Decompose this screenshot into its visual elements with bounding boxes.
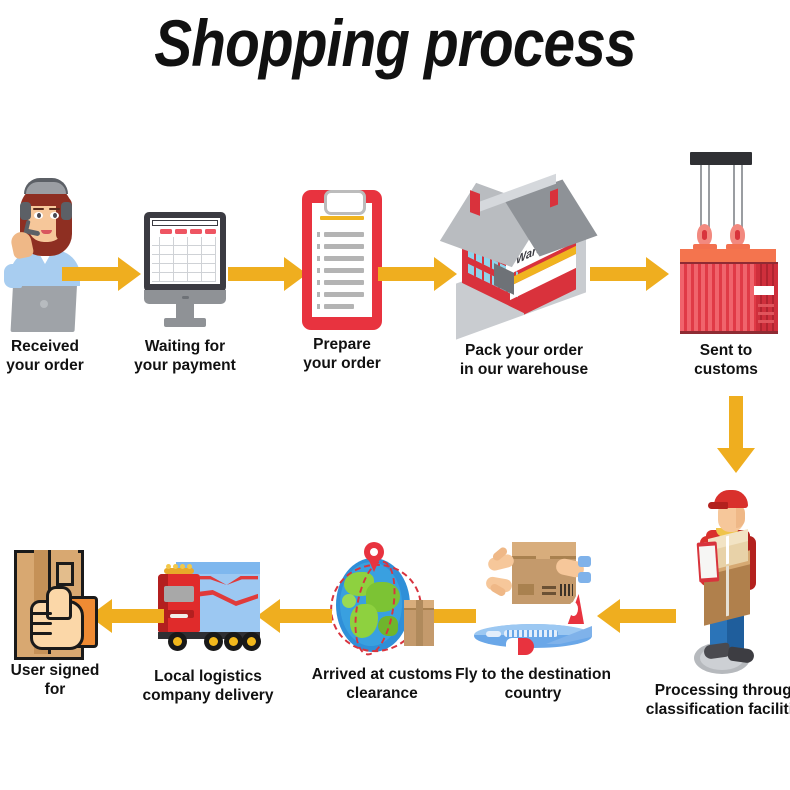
step-5-sent-to-customs: Sent to customs [668, 152, 782, 332]
connector-arrow-4 [590, 256, 670, 297]
step-2-label: Waiting for your payment [106, 338, 264, 375]
globe-parcel-pin-icon [322, 542, 442, 658]
connector-arrow-6 [596, 598, 676, 639]
delivery-truck-icon [152, 556, 260, 656]
step-8-label: Arrived at customs clearance [288, 666, 476, 703]
step-5-label: Sent to customs [658, 342, 790, 379]
step-6-processing-through-classification-facilities: Processing through classification facili… [672, 484, 784, 684]
connector-arrow-5-down [712, 396, 760, 479]
page-title: Shopping process [55, 8, 734, 78]
step-2-waiting-for-your-payment: Waiting for your payment [138, 212, 232, 332]
step-8-arrived-at-customs-clearance: Arrived at customs clearance [322, 542, 442, 658]
computer-monitor-table-icon [138, 212, 232, 332]
connector-arrow-3 [378, 256, 458, 297]
step-4-label: Pack your order in our warehouse [436, 342, 612, 379]
warehouse-building-icon: Warehouse [450, 176, 596, 332]
infographic-canvas: Shopping process [0, 0, 790, 790]
shipping-container-crane-icon [668, 152, 782, 332]
step-1-label: Received your order [0, 338, 116, 375]
step-1-received-your-order: Received your order [2, 172, 88, 332]
step-3-prepare-your-order: Prepare your order [302, 190, 382, 332]
clipboard-checklist-icon [302, 190, 382, 332]
connector-arrow-1 [62, 256, 142, 297]
step-7-fly-to-the-destination-country: Fly to the destination country [460, 542, 606, 658]
step-4-pack-your-order: Warehouse Pack your order in our warehou… [450, 176, 596, 332]
step-6-label: Processing through classification facili… [630, 682, 790, 719]
connector-arrow-2 [228, 256, 308, 297]
step-10-user-signed-for: User signed for [8, 550, 100, 660]
step-10-label: User signed for [0, 662, 124, 699]
customer-service-agent-icon [2, 172, 88, 332]
airplane-parcel-icon [460, 542, 606, 658]
step-9-local-logistics-company-delivery: Local logistics company delivery [152, 556, 260, 656]
hand-receiving-parcel-door-icon [8, 550, 100, 660]
connector-arrow-8 [256, 598, 332, 639]
delivery-worker-parcels-icon [672, 484, 784, 684]
step-3-label: Prepare your order [272, 336, 412, 373]
step-9-label: Local logistics company delivery [124, 668, 292, 705]
